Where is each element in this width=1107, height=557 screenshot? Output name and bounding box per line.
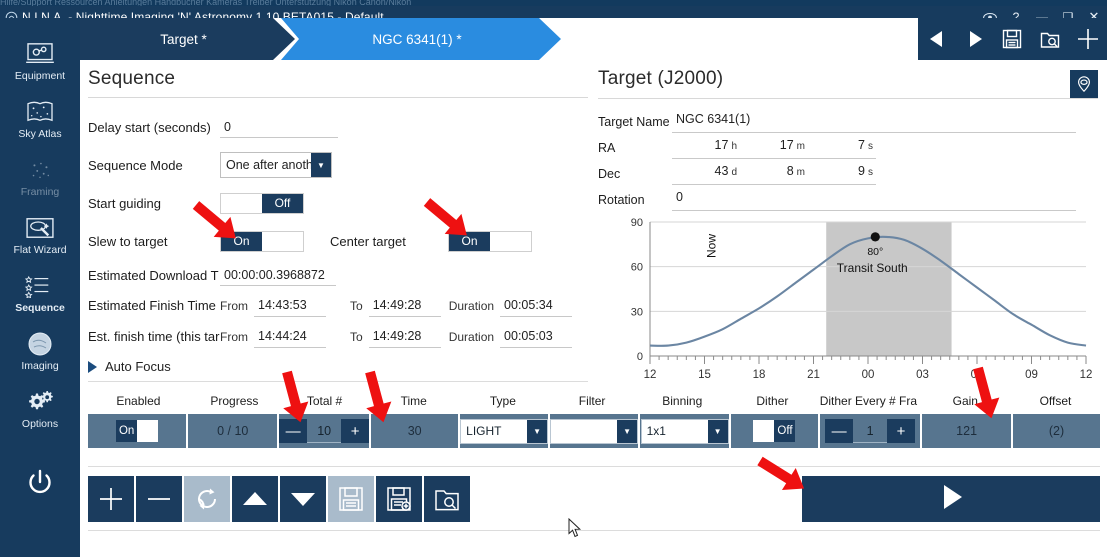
move-down-button[interactable] <box>280 476 326 522</box>
center-target-toggle[interactable]: On <box>448 231 532 252</box>
sequence-table: Enabled Progress Total # Time Type Filte… <box>88 392 1100 448</box>
svg-text:09: 09 <box>1025 369 1038 381</box>
sidebar-item-framing[interactable]: Framing <box>0 148 80 206</box>
options-gear-icon <box>25 388 55 416</box>
bottom-toolbar <box>88 476 1100 522</box>
dither-every-stepper[interactable]: — 1 + <box>825 419 915 443</box>
estimated-download-row: Estimated Download T 00:00:00.3968872 <box>88 260 588 290</box>
ra-minutes-input[interactable]: 17 m <box>740 138 808 159</box>
triangle-right-icon[interactable] <box>957 18 993 60</box>
sequence-mode-row: Sequence Mode One after anothe ▼ <box>88 146 588 184</box>
ra-seconds-unit: s <box>868 141 873 152</box>
table-header-row: Enabled Progress Total # Time Type Filte… <box>88 392 1100 410</box>
dec-minutes-input[interactable]: 8 m <box>740 164 808 185</box>
tab-ngc-6341[interactable]: NGC 6341(1) * <box>281 18 561 60</box>
triangle-left-icon[interactable] <box>919 18 955 60</box>
chart-minor-ticks <box>650 356 1086 364</box>
dec-row: Dec 43 d 8 m 9 s <box>598 161 1098 187</box>
now-label: Now <box>704 234 718 258</box>
sidebar-item-label: Flat Wizard <box>13 245 66 256</box>
toggle-left: On <box>449 232 490 251</box>
transit-marker-dot <box>871 232 880 241</box>
svg-text:12: 12 <box>644 369 657 381</box>
column-header-time: Time <box>369 394 458 408</box>
dec-degrees-input[interactable]: 43 d <box>672 164 740 185</box>
sidebar-item-imaging[interactable]: Imaging <box>0 322 80 380</box>
framing-icon <box>25 156 55 184</box>
dec-minutes-value: 8 <box>787 164 794 178</box>
start-guiding-label: Start guiding <box>88 196 220 211</box>
cell-type[interactable]: LIGHT ▼ <box>460 414 548 448</box>
cell-dither-every[interactable]: — 1 + <box>820 414 920 448</box>
target-name-input[interactable]: NGC 6341(1) <box>672 112 1076 133</box>
time-value[interactable]: 30 <box>408 424 422 438</box>
transit-south-label: Transit South <box>837 261 908 275</box>
sidebar-item-label: Options <box>22 419 58 430</box>
slew-center-row: Slew to target On Center target On <box>88 222 588 260</box>
estimated-finish-from: 14:43:53 <box>254 295 326 317</box>
svg-text:15: 15 <box>698 369 711 381</box>
ra-seconds-value: 7 <box>858 138 865 152</box>
mouse-cursor <box>568 518 582 543</box>
plus-icon[interactable] <box>1070 18 1106 60</box>
svg-text:0: 0 <box>637 351 643 363</box>
type-select[interactable]: LIGHT ▼ <box>460 419 548 444</box>
toggle-left <box>753 420 774 442</box>
estimated-download-value: 00:00:00.3968872 <box>220 264 336 286</box>
dec-seconds-unit: s <box>868 167 873 178</box>
toolbar-divider-top <box>88 466 1100 467</box>
duration-label: Duration <box>449 299 494 313</box>
enabled-toggle[interactable]: On <box>116 420 158 442</box>
sequence-panel: Sequence Delay start (seconds) 0 Sequenc… <box>88 68 588 382</box>
estimated-finish-row: Estimated Finish Time From 14:43:53 To 1… <box>88 290 588 321</box>
estimated-finish-target-label: Est. finish time (this tar <box>88 329 220 344</box>
estimated-finish-to: 14:49:28 <box>369 295 441 317</box>
from-label: From <box>220 330 248 344</box>
load-button[interactable] <box>424 476 470 522</box>
cell-dither[interactable]: Off <box>731 414 818 448</box>
chevron-down-icon: ▼ <box>311 153 331 177</box>
sidebar-item-label: Sequence <box>15 303 65 314</box>
sidebar-item-sequence[interactable]: Sequence <box>0 264 80 322</box>
estimated-finish-target-to: 14:49:28 <box>369 326 441 348</box>
slew-to-target-toggle[interactable]: On <box>220 231 304 252</box>
toolbar-divider-bottom <box>88 530 1100 531</box>
estimated-finish-target-from: 14:44:24 <box>254 326 326 348</box>
target-tab-bar: Target * NGC 6341(1) * <box>80 18 1107 60</box>
sidebar-item-options[interactable]: Options <box>0 380 80 438</box>
tab-target[interactable]: Target * <box>80 18 295 60</box>
location-pin-icon[interactable] <box>1070 70 1098 98</box>
type-value: LIGHT <box>466 424 501 438</box>
column-header-enabled: Enabled <box>88 394 189 408</box>
target-name-row: Target Name NGC 6341(1) <box>598 109 1098 135</box>
altitude-chart-svg: 0306090 121518210003060912 80° Transit S… <box>612 216 1092 384</box>
svg-text:12: 12 <box>1080 369 1092 381</box>
to-label: To <box>350 299 363 313</box>
estimated-finish-label: Estimated Finish Time <box>88 298 220 313</box>
cell-filter[interactable]: ▼ <box>550 414 638 448</box>
play-icon <box>934 480 968 519</box>
column-header-filter: Filter <box>548 394 637 408</box>
binning-value: 1x1 <box>647 424 666 438</box>
total-stepper[interactable]: — 10 + <box>279 419 369 443</box>
svg-text:90: 90 <box>631 217 643 229</box>
ra-hours-input[interactable]: 17 h <box>672 138 740 159</box>
svg-text:30: 30 <box>631 306 643 318</box>
start-guiding-row: Start guiding Off <box>88 184 588 222</box>
delay-start-row: Delay start (seconds) 0 <box>88 108 588 146</box>
transit-altitude-label: 80° <box>867 246 883 258</box>
column-header-offset: Offset <box>1011 394 1100 408</box>
night-band <box>826 222 951 356</box>
dec-label: Dec <box>598 167 672 181</box>
remove-row-button[interactable] <box>136 476 182 522</box>
chart-y-tick-labels: 0306090 <box>631 217 643 363</box>
altitude-chart: 0306090 121518210003060912 80° Transit S… <box>612 216 1092 384</box>
cell-time[interactable]: 30 <box>371 414 458 448</box>
center-target-label: Center target <box>330 234 448 249</box>
toggle-left <box>221 194 262 213</box>
cell-enabled[interactable]: On <box>88 414 186 448</box>
estimated-finish-duration: 00:05:34 <box>500 295 572 317</box>
column-header-dither-every: Dither Every # Fra <box>817 394 920 408</box>
sidebar-item-label: Framing <box>21 187 60 198</box>
increment-button[interactable]: + <box>887 419 915 443</box>
auto-focus-label: Auto Focus <box>105 359 171 374</box>
toggle-right: Off <box>774 420 795 442</box>
toggle-right <box>137 420 158 442</box>
column-header-dither: Dither <box>728 394 817 408</box>
rotation-row: Rotation 0 <box>598 187 1098 213</box>
chevron-down-icon: ▼ <box>527 420 547 443</box>
dither-every-value[interactable]: 1 <box>853 419 887 443</box>
sequence-mode-value: One after anothe <box>226 158 320 172</box>
delay-start-input[interactable]: 0 <box>220 116 338 138</box>
rotation-input[interactable]: 0 <box>672 190 1076 211</box>
cell-offset[interactable]: (2) <box>1013 414 1100 448</box>
start-guiding-toggle[interactable]: Off <box>220 193 304 214</box>
target-panel-title: Target (J2000) <box>598 68 723 97</box>
svg-text:18: 18 <box>753 369 766 381</box>
total-value[interactable]: 10 <box>307 419 341 443</box>
filter-select[interactable]: ▼ <box>550 419 638 444</box>
toggle-left: On <box>221 232 262 251</box>
dec-seconds-value: 9 <box>858 164 865 178</box>
imaging-icon <box>26 330 54 358</box>
duration-label: Duration <box>449 330 494 344</box>
dec-degrees-unit: d <box>731 167 737 178</box>
cell-progress: 0 / 10 <box>188 414 277 448</box>
increment-button[interactable]: + <box>341 419 369 443</box>
target-toolbar <box>918 18 1107 60</box>
dither-toggle[interactable]: Off <box>753 420 795 442</box>
triangle-right-icon <box>88 361 97 373</box>
chevron-down-icon: ▼ <box>617 420 637 443</box>
sky-atlas-icon <box>25 98 55 126</box>
sidebar: Equipment Sky Atlas <box>0 18 80 557</box>
cell-binning[interactable]: 1x1 ▼ <box>640 414 729 448</box>
sidebar-item-label: Imaging <box>21 361 58 372</box>
rotation-label: Rotation <box>598 193 672 207</box>
dec-minutes-unit: m <box>797 167 805 178</box>
floppy-disk-icon[interactable] <box>994 18 1030 60</box>
slew-to-target-label: Slew to target <box>88 234 220 249</box>
chart-x-tick-labels: 121518210003060912 <box>644 369 1092 381</box>
column-header-binning: Binning <box>637 394 728 408</box>
reset-button <box>184 476 230 522</box>
svg-text:21: 21 <box>807 369 820 381</box>
gain-value[interactable]: 121 <box>956 424 977 438</box>
add-row-button[interactable] <box>88 476 134 522</box>
svg-text:60: 60 <box>631 262 643 274</box>
from-label: From <box>220 299 248 313</box>
sidebar-item-label: Sky Atlas <box>18 129 61 140</box>
column-header-gain: Gain <box>920 394 1011 408</box>
table-row[interactable]: On 0 / 10 — 10 + 30 LIGHT ▼ <box>88 414 1100 448</box>
ra-seconds-input[interactable]: 7 s <box>808 138 876 159</box>
column-header-progress: Progress <box>189 394 280 408</box>
ra-minutes-unit: m <box>797 141 805 152</box>
target-panel: Target (J2000) Target Name NGC 6341(1) R… <box>598 68 1098 213</box>
toggle-left: On <box>116 420 137 442</box>
sidebar-item-flat-wizard[interactable]: Flat Wizard <box>0 206 80 264</box>
cell-gain[interactable]: 121 <box>922 414 1011 448</box>
decrement-button[interactable]: — <box>825 419 853 443</box>
sidebar-item-label: Equipment <box>15 71 65 82</box>
cell-total[interactable]: — 10 + <box>279 414 369 448</box>
start-sequence-button[interactable] <box>802 476 1100 522</box>
estimated-finish-target-row: Est. finish time (this tar From 14:44:24… <box>88 321 588 352</box>
delay-start-label: Delay start (seconds) <box>88 120 220 135</box>
dec-degrees-value: 43 <box>715 164 729 178</box>
ra-label: RA <box>598 141 672 155</box>
save-button <box>328 476 374 522</box>
sequence-icon <box>24 272 56 300</box>
estimated-finish-target-duration: 00:05:03 <box>500 326 572 348</box>
page-title: Sequence <box>88 68 588 97</box>
svg-text:03: 03 <box>916 369 929 381</box>
binning-select[interactable]: 1x1 ▼ <box>641 419 729 444</box>
ra-minutes-value: 17 <box>780 138 794 152</box>
sidebar-item-sky-atlas[interactable]: Sky Atlas <box>0 90 80 148</box>
svg-text:00: 00 <box>862 369 875 381</box>
ra-hours-value: 17 <box>715 138 729 152</box>
folder-search-icon[interactable] <box>1032 18 1068 60</box>
sidebar-item-equipment[interactable]: Equipment <box>0 32 80 90</box>
toggle-right <box>490 232 531 251</box>
equipment-icon <box>24 40 56 68</box>
target-name-label: Target Name <box>598 115 672 129</box>
power-icon[interactable] <box>0 458 80 508</box>
save-as-button[interactable] <box>376 476 422 522</box>
flat-wizard-icon <box>24 214 56 242</box>
offset-value[interactable]: (2) <box>1049 424 1064 438</box>
auto-focus-expander[interactable]: Auto Focus <box>88 352 588 382</box>
decrement-button[interactable]: — <box>279 419 307 443</box>
ra-row: RA 17 h 17 m 7 s <box>598 135 1098 161</box>
to-label: To <box>350 330 363 344</box>
ra-hours-unit: h <box>731 141 737 152</box>
progress-value: 0 / 10 <box>217 424 248 438</box>
column-header-total: Total # <box>280 394 369 408</box>
svg-text:06: 06 <box>971 369 984 381</box>
sequence-mode-select[interactable]: One after anothe ▼ <box>220 152 332 178</box>
dec-seconds-input[interactable]: 9 s <box>808 164 876 185</box>
move-up-button[interactable] <box>232 476 278 522</box>
column-header-type: Type <box>458 394 547 408</box>
estimated-download-label: Estimated Download T <box>88 268 220 283</box>
toggle-right <box>262 232 303 251</box>
toggle-right: Off <box>262 194 303 213</box>
sequence-mode-label: Sequence Mode <box>88 158 220 173</box>
chevron-down-icon: ▼ <box>708 420 728 443</box>
